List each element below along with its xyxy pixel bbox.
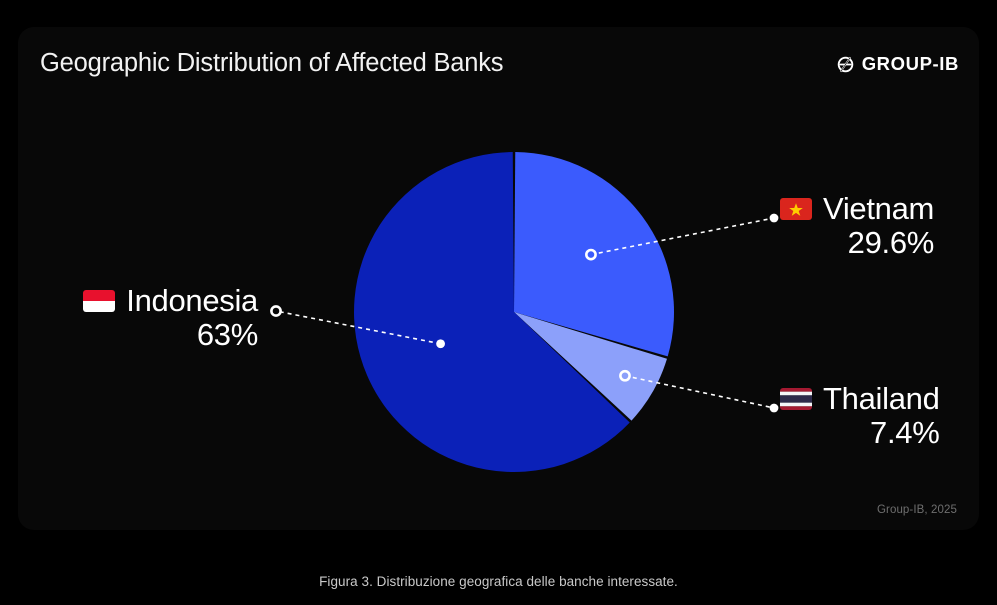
flag-indonesia-icon <box>83 290 115 312</box>
pie-chart-plot-area: Vietnam 29.6% Thailand 7.4% <box>18 27 979 530</box>
leader-ring-thailand <box>620 371 629 380</box>
callout-label-thailand: Thailand <box>823 383 940 415</box>
source-note: Group-IB, 2025 <box>877 504 957 516</box>
figure-caption: Figura 3. Distribuzione geografica delle… <box>0 574 997 589</box>
callout-vietnam: Vietnam 29.6% <box>780 193 934 261</box>
leader-dot-thailand <box>770 404 779 413</box>
flag-vietnam-icon <box>780 198 812 220</box>
callout-label-indonesia: Indonesia <box>126 285 258 317</box>
callout-indonesia: Indonesia 63% <box>48 285 258 353</box>
flag-thailand-icon <box>780 388 812 410</box>
callout-label-vietnam: Vietnam <box>823 193 934 225</box>
callout-value-indonesia: 63% <box>197 317 258 354</box>
chart-card: Geographic Distribution of Affected Bank… <box>18 27 979 530</box>
leader-ring-vietnam <box>586 250 595 259</box>
leader-dot-vietnam <box>770 214 779 223</box>
leader-dot-indonesia <box>436 339 445 348</box>
pie-slices-group <box>354 152 674 472</box>
pie-chart-svg <box>18 27 979 530</box>
callout-thailand: Thailand 7.4% <box>780 383 940 451</box>
callout-value-thailand: 7.4% <box>780 415 940 452</box>
leader-ring-indonesia <box>271 306 280 315</box>
callout-value-vietnam: 29.6% <box>780 225 934 262</box>
